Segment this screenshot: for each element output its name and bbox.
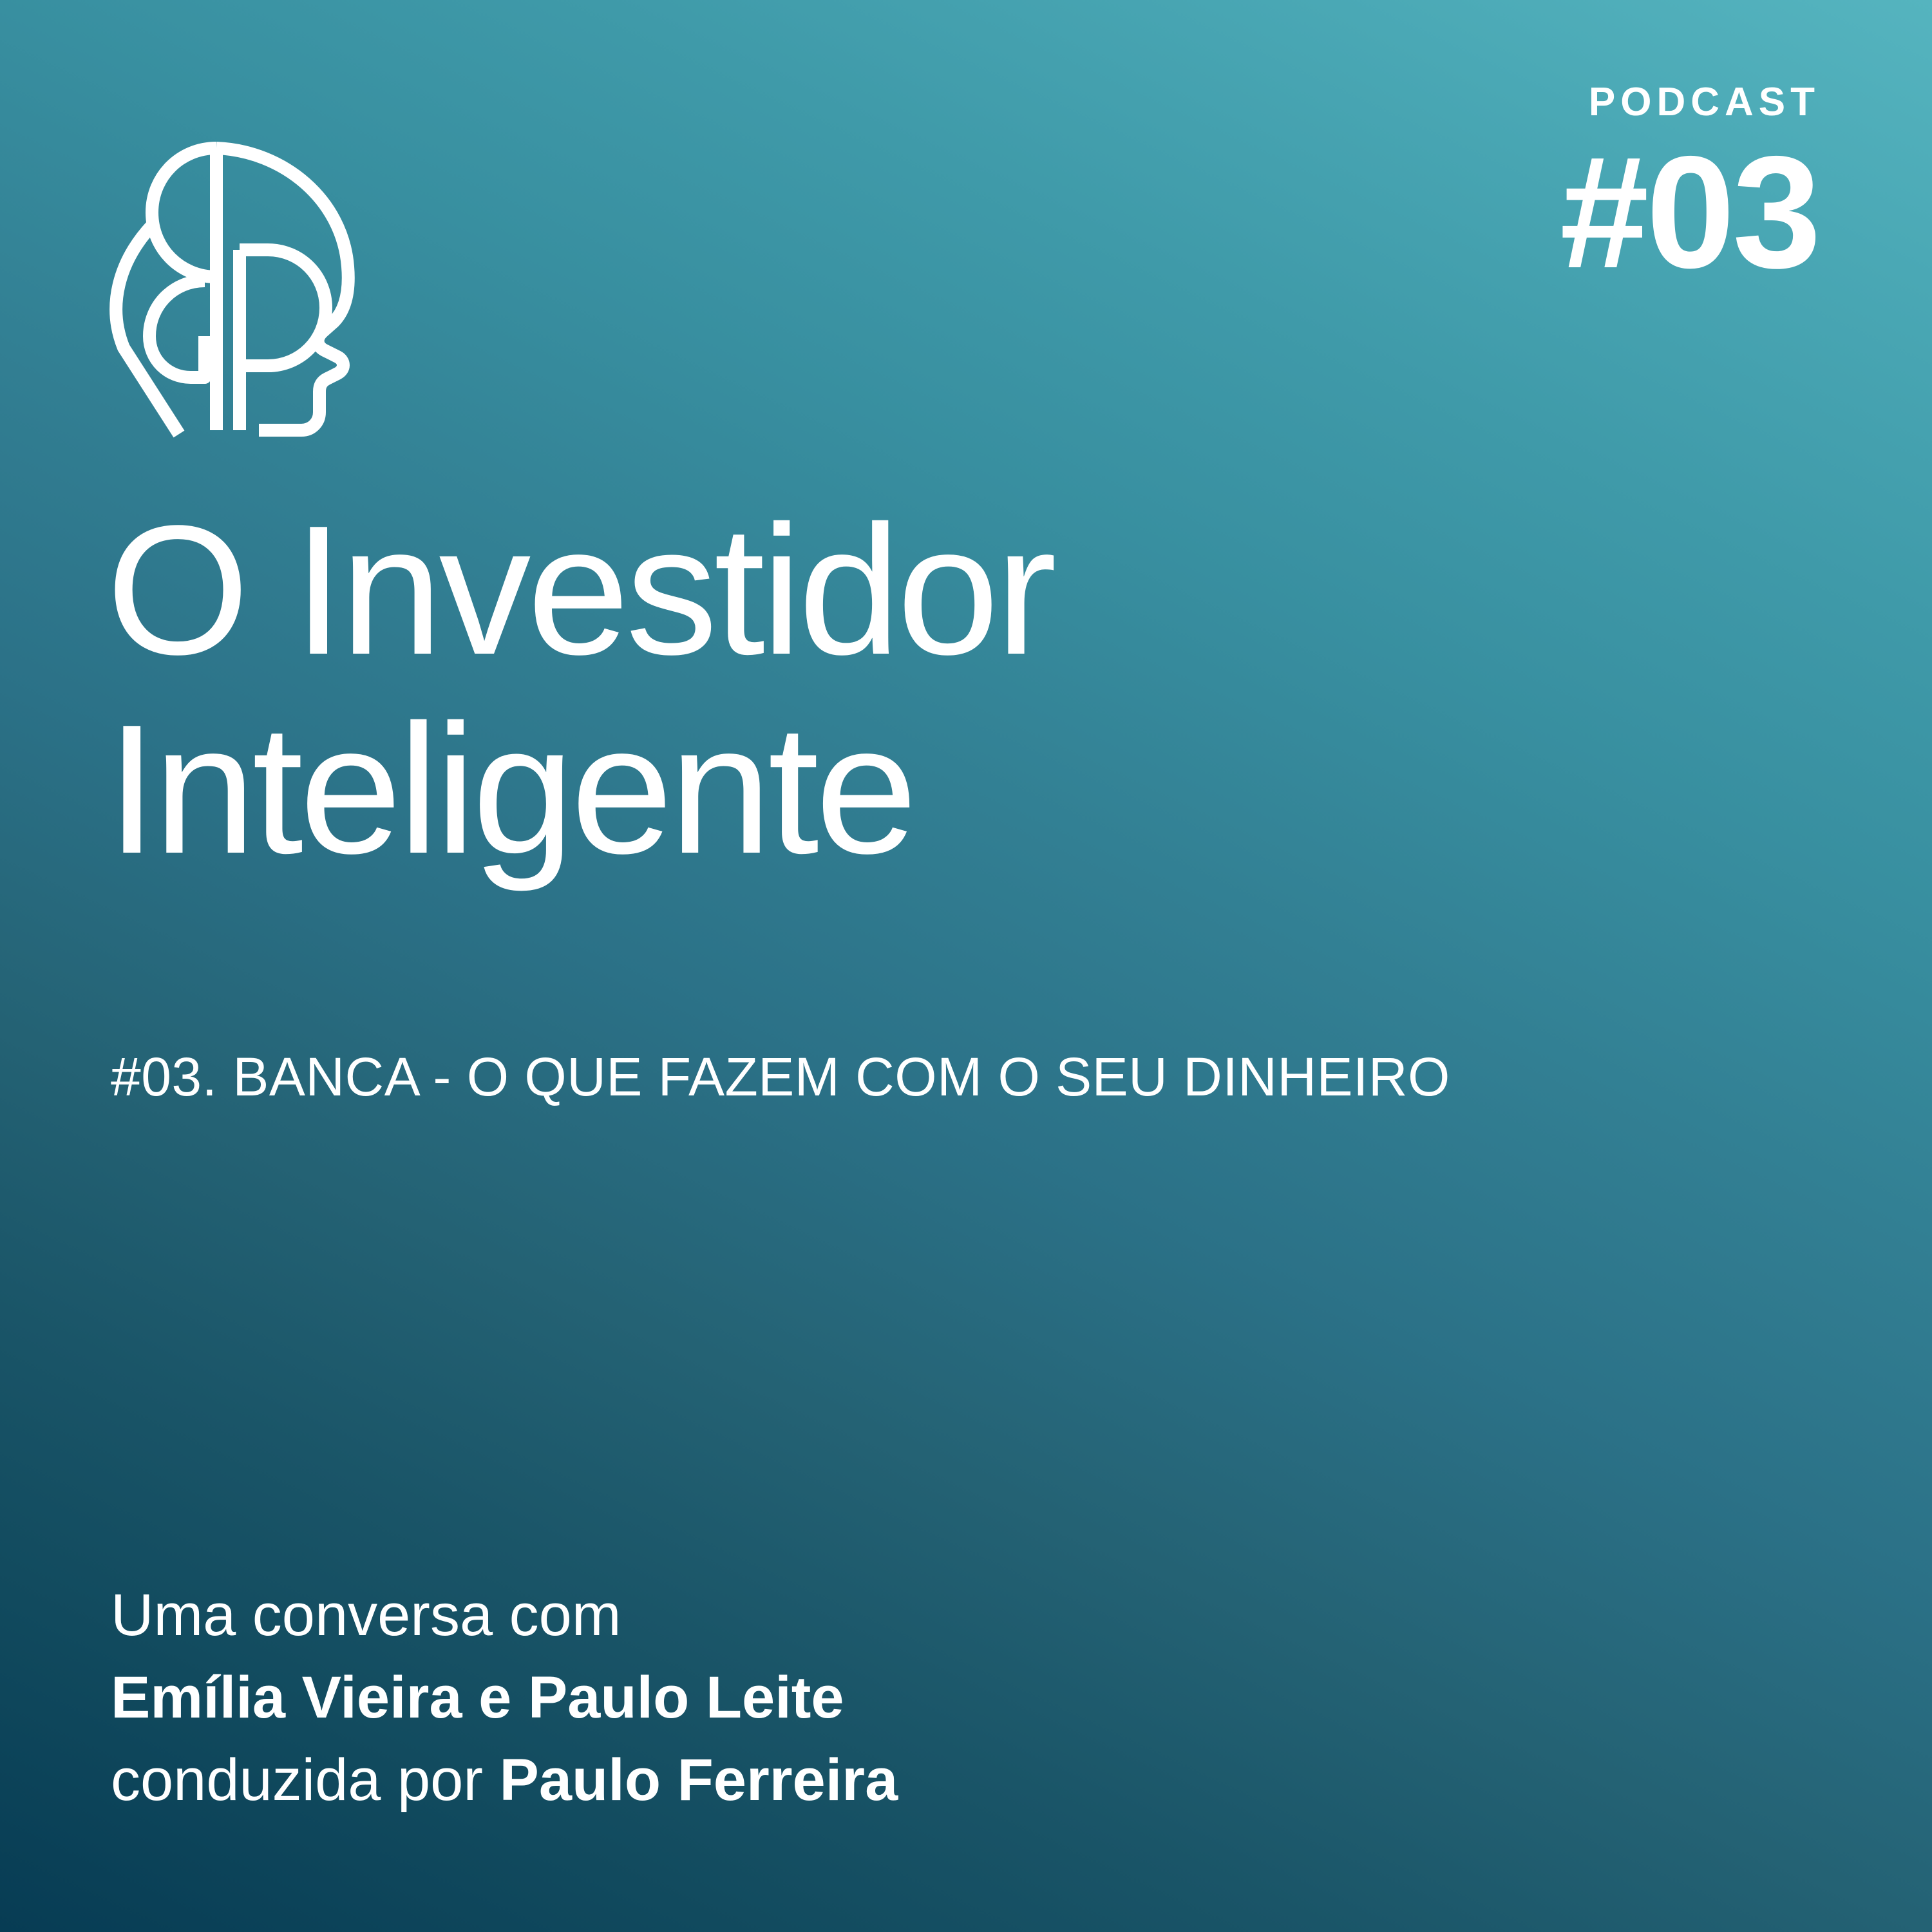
podcast-badge: PODCAST #03 — [1560, 82, 1815, 290]
brand-logo — [90, 129, 374, 444]
head-profile-ap-logo-icon — [90, 129, 374, 444]
episode-number: #03 — [1560, 134, 1819, 290]
credits-block: Uma conversa com Emília Vieira e Paulo L… — [111, 1586, 898, 1810]
credits-intro: Uma conversa com — [111, 1586, 898, 1645]
episode-subtitle: #03. BANCA - O QUE FAZEM COM O SEU DINHE… — [111, 1047, 1450, 1106]
credits-host-name: Paulo Ferreira — [500, 1747, 898, 1813]
credits-host-line: conduzida por Paulo Ferreira — [111, 1750, 898, 1810]
podcast-cover: PODCAST #03 O Investidor Inteligente #03… — [0, 0, 1932, 1932]
credits-guests: Emília Vieira e Paulo Leite — [111, 1668, 898, 1727]
show-title: O Investidor Inteligente — [106, 491, 1053, 889]
show-title-line-1: O Investidor — [106, 491, 1053, 690]
podcast-kicker-label: PODCAST — [1560, 82, 1820, 122]
show-title-line-2: Inteligente — [106, 690, 1053, 889]
credits-host-prefix: conduzida por — [111, 1747, 500, 1813]
